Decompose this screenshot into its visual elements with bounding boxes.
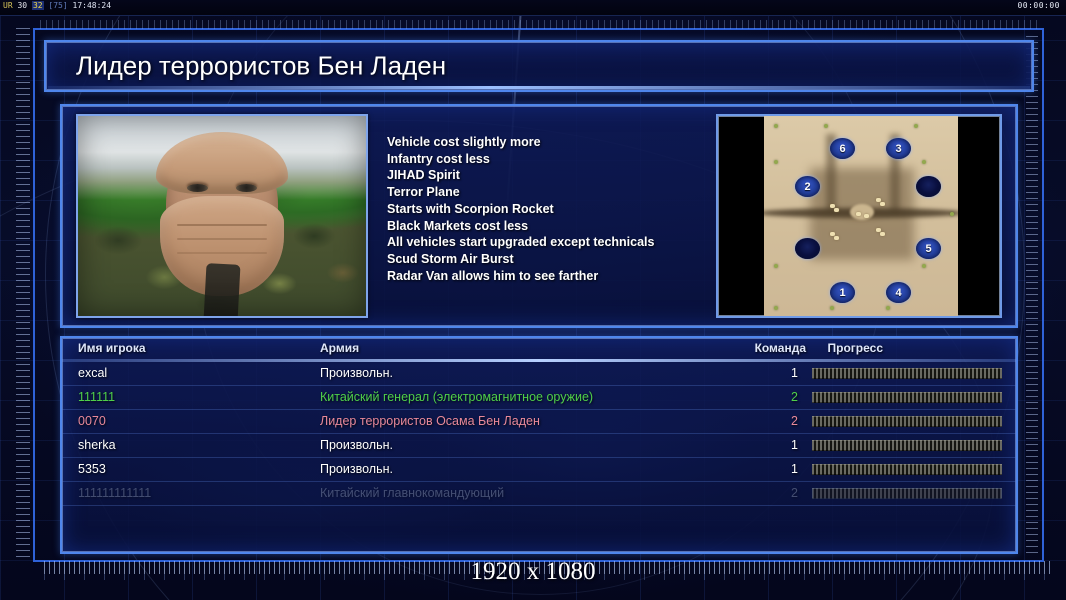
player-name: sherka <box>78 438 116 452</box>
map-center-island <box>850 204 874 220</box>
player-list-panel: Имя игрока Армия Команда Прогресс excalП… <box>60 336 1018 554</box>
feature-item: JIHAD Spirit <box>387 167 717 184</box>
player-progress-bar <box>812 368 1002 379</box>
general-feature-list: Vehicle cost slightly moreInfantry cost … <box>387 134 717 284</box>
column-header-progress: Прогресс <box>828 341 883 355</box>
status-clock: 00:00:00 <box>1017 1 1060 10</box>
map-tree-marker <box>774 306 778 310</box>
player-team: 2 <box>774 486 798 500</box>
page-title: Лидер террористов Бен Ладен <box>76 51 446 82</box>
player-progress-bar <box>812 440 1002 451</box>
feature-item: Scud Storm Air Burst <box>387 251 717 268</box>
player-name: 111111111111 <box>78 486 151 500</box>
map-tree-marker <box>774 160 778 164</box>
player-table-body: excalПроизвольн.1111111Китайский генерал… <box>62 362 1016 506</box>
map-tree-marker <box>774 264 778 268</box>
feature-item: Infantry cost less <box>387 151 717 168</box>
feature-item: Radar Van allows him to see farther <box>387 268 717 285</box>
status-value-2: 32 <box>32 1 44 10</box>
player-progress-fill <box>812 464 1002 475</box>
map-start-position-4[interactable]: 4 <box>886 282 911 303</box>
frame-line-left <box>33 28 35 562</box>
map-start-position-empty[interactable] <box>795 238 820 259</box>
game-lobby-screen: UR 30 32 [75] 17:48:24 00:00:00 Лидер те… <box>0 0 1066 600</box>
player-progress-bar <box>812 464 1002 475</box>
player-progress-fill <box>812 440 1002 451</box>
player-name: 5353 <box>78 462 106 476</box>
player-team: 2 <box>774 414 798 428</box>
player-progress-fill <box>812 392 1002 403</box>
player-progress-bar <box>812 392 1002 403</box>
status-bar-left: UR 30 32 [75] 17:48:24 <box>3 1 111 10</box>
player-name: excal <box>78 366 107 380</box>
map-prop-marker <box>834 236 839 240</box>
map-start-position-1[interactable]: 1 <box>830 282 855 303</box>
player-army: Произвольн. <box>320 438 393 452</box>
player-team: 1 <box>774 366 798 380</box>
map-tree-marker <box>886 306 890 310</box>
map-tree-marker <box>950 212 954 216</box>
table-row[interactable]: 111111111111Китайский главнокомандующий2 <box>62 482 1016 506</box>
frame-line-top <box>33 28 1044 30</box>
map-prop-marker <box>856 212 861 216</box>
title-panel: Лидер террористов Бен Ладен <box>44 40 1034 92</box>
status-bracket: [75] <box>48 1 67 10</box>
player-army: Китайский генерал (электромагнитное оруж… <box>320 390 593 404</box>
table-row[interactable]: 111111Китайский генерал (электромагнитно… <box>62 386 1016 410</box>
column-header-team: Команда <box>755 341 806 355</box>
column-header-name: Имя игрока <box>78 341 146 355</box>
map-tree-marker <box>774 124 778 128</box>
map-tree-marker <box>914 124 918 128</box>
frame-line-right <box>1042 28 1044 562</box>
feature-item: Starts with Scorpion Rocket <box>387 201 717 218</box>
player-team: 1 <box>774 462 798 476</box>
map-start-position-6[interactable]: 6 <box>830 138 855 159</box>
map-tree-marker <box>922 160 926 164</box>
map-prop-marker <box>880 232 885 236</box>
player-name: 111111 <box>78 390 115 404</box>
player-progress-fill <box>812 368 1002 379</box>
table-row[interactable]: sherkaПроизвольн.1 <box>62 434 1016 458</box>
player-army: Лидер террористов Осама Бен Ладен <box>320 414 540 428</box>
general-info-panel: Vehicle cost slightly moreInfantry cost … <box>60 104 1018 328</box>
status-value-1: 30 <box>17 1 27 10</box>
map-tree-marker <box>830 306 834 310</box>
column-header-army: Армия <box>320 341 359 355</box>
player-team: 1 <box>774 438 798 452</box>
map-prop-marker <box>834 208 839 212</box>
status-ur-label: UR <box>3 1 13 10</box>
feature-item: Vehicle cost slightly more <box>387 134 717 151</box>
map-tree-marker <box>922 264 926 268</box>
status-time: 17:48:24 <box>73 1 112 10</box>
player-army: Произвольн. <box>320 366 393 380</box>
map-prop-marker <box>880 202 885 206</box>
feature-item: Terror Plane <box>387 184 717 201</box>
map-start-position-5[interactable]: 5 <box>916 238 941 259</box>
player-progress-fill <box>812 488 1002 499</box>
map-start-position-3[interactable]: 3 <box>886 138 911 159</box>
map-start-position-2[interactable]: 2 <box>795 176 820 197</box>
ruler-right <box>1026 36 1038 556</box>
player-name: 0070 <box>78 414 106 428</box>
portrait-vignette <box>78 116 366 316</box>
bin-laden-portrait <box>78 116 366 316</box>
player-team: 2 <box>774 390 798 404</box>
player-army: Произвольн. <box>320 462 393 476</box>
map-preview-image: 632514 <box>764 116 958 316</box>
feature-item: Black Markets cost less <box>387 218 717 235</box>
player-progress-bar <box>812 488 1002 499</box>
table-row[interactable]: 5353Произвольн.1 <box>62 458 1016 482</box>
map-prop-marker <box>864 214 869 218</box>
map-start-position-empty[interactable] <box>916 176 941 197</box>
resolution-label: 1920 x 1080 <box>0 558 1066 586</box>
player-table-header: Имя игрока Армия Команда Прогресс <box>62 338 1016 360</box>
status-bar: UR 30 32 [75] 17:48:24 00:00:00 <box>0 0 1066 16</box>
general-portrait-frame <box>76 114 368 318</box>
table-row[interactable]: 0070Лидер террористов Осама Бен Ладен2 <box>62 410 1016 434</box>
player-army: Китайский главнокомандующий <box>320 486 504 500</box>
player-progress-bar <box>812 416 1002 427</box>
feature-item: All vehicles start upgraded except techn… <box>387 234 717 251</box>
map-preview-frame[interactable]: 632514 <box>716 114 1002 318</box>
player-progress-fill <box>812 416 1002 427</box>
ruler-left <box>16 28 30 558</box>
title-underline <box>48 86 1030 89</box>
map-tree-marker <box>824 124 828 128</box>
table-row[interactable]: excalПроизвольн.1 <box>62 362 1016 386</box>
